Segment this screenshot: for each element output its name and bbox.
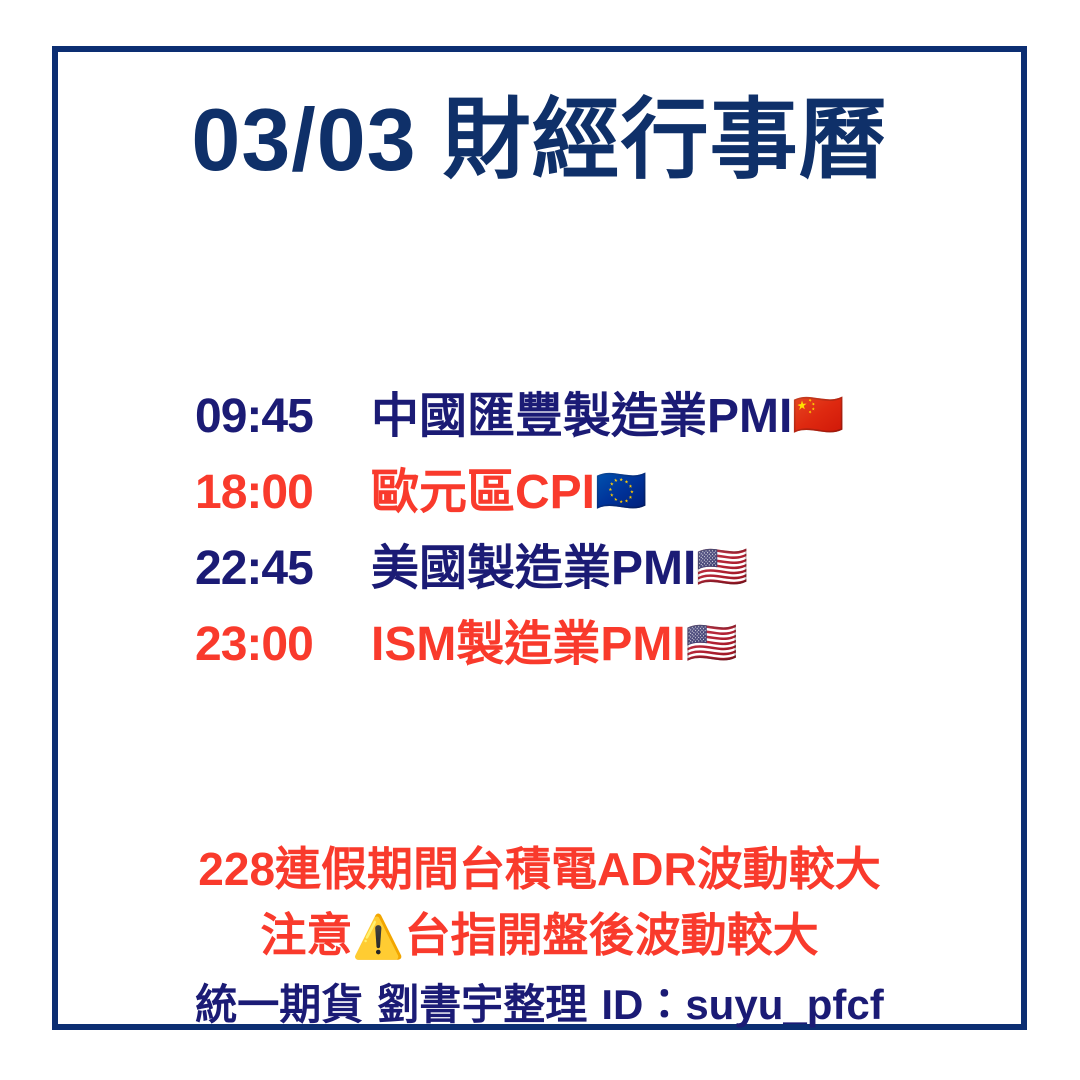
financial-calendar-poster: 03/03財經行事曆 09:45中國匯豐製造業PMI🇨🇳 18:00歐元區CPI… [0,0,1080,1080]
event-row: 23:00ISM製造業PMI🇺🇸 [195,604,995,680]
notice-text-before: 注意 [260,909,352,961]
event-time: 18:00 [195,465,365,520]
footer-id-label: ID： [601,981,685,1028]
event-row: 09:45中國匯豐製造業PMI🇨🇳 [195,376,995,452]
flag-china-icon: 🇨🇳 [792,390,844,440]
poster-content: 03/03財經行事曆 09:45中國匯豐製造業PMI🇨🇳 18:00歐元區CPI… [52,46,1027,1030]
event-list: 09:45中國匯豐製造業PMI🇨🇳 18:00歐元區CPI🇪🇺 22:45美國製… [195,376,995,680]
notice-text: 228連假期間台積電ADR波動較大 [198,843,880,895]
notice-block: 228連假期間台積電ADR波動較大 注意⚠️台指開盤後波動較大 [52,836,1027,970]
footer-id-value: suyu_pfcf [685,981,883,1028]
event-row: 18:00歐元區CPI🇪🇺 [195,452,995,528]
event-name: 中國匯豐製造業PMI [371,376,792,446]
warning-icon: ⚠️ [352,912,404,961]
event-row: 22:45美國製造業PMI🇺🇸 [195,528,995,604]
flag-united-states-icon: 🇺🇸 [696,542,748,592]
notice-line: 228連假期間台積電ADR波動較大 [52,836,1027,902]
title-date: 03/03 [191,90,416,189]
flag-united-states-icon: 🇺🇸 [686,618,738,668]
notice-line: 注意⚠️台指開盤後波動較大 [52,902,1027,970]
event-time: 09:45 [195,389,365,444]
event-name: ISM製造業PMI [371,604,686,674]
event-name: 歐元區CPI [371,452,595,522]
footer-company: 統一期貨 [195,981,363,1028]
flag-european-union-icon: 🇪🇺 [595,466,647,516]
event-time: 23:00 [195,617,365,672]
notice-text-after: 台指開盤後波動較大 [405,909,819,961]
title-text: 財經行事曆 [443,90,888,189]
page-title: 03/03財經行事曆 [52,94,1027,186]
footer-author: 劉書宇整理 [377,981,587,1028]
event-time: 22:45 [195,541,365,596]
event-name: 美國製造業PMI [371,528,696,598]
footer-signature: 統一期貨劉書宇整理ID：suyu_pfcf [52,971,1027,1032]
